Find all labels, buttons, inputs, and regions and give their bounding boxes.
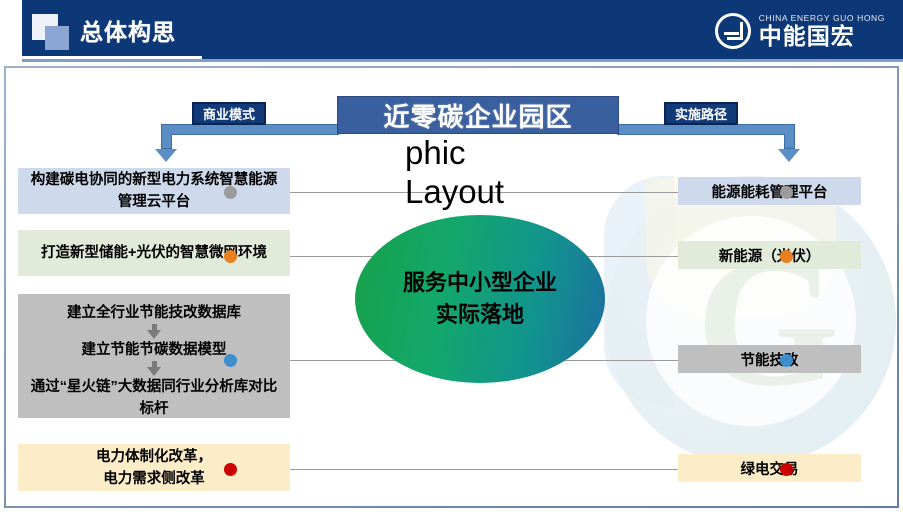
arrow-left-head-icon [155,149,177,162]
right-item-2[interactable]: 新能源（光伏） [678,241,861,269]
arrow-right-stem [784,134,795,149]
left-item-3-arrow-2-icon [147,361,161,376]
header-title-underline [22,56,202,59]
connector-dot-right-3 [780,354,793,367]
connector-dot-right-2 [780,250,793,263]
tag-business-model[interactable]: 商业模式 [192,102,266,125]
connector-dot-left-4 [224,463,237,476]
arrow-right-head-icon [778,149,800,162]
center-ellipse: 服务中小型企业 实际落地 [355,215,605,383]
left-item-3-label-2: 建立节能节碳数据模型 [24,339,284,361]
header-square-blue-icon [45,26,69,50]
connector-dot-right-4 [780,463,793,476]
company-logo: CHINA ENERGY GUO HONG 中能国宏 [715,11,885,51]
watermark-blue-band [604,176,674,406]
connector-dot-left-3 [224,354,237,367]
slide-header: 总体构思 CHINA ENERGY GUO HONG 中能国宏 [0,0,903,62]
left-item-1-label: 构建碳电协同的新型电力系统智慧能源管理云平台 [24,169,284,213]
diagram-main-title: 近零碳企业园区 [337,96,619,134]
left-item-4-label: 电力体制化改革， 电力需求侧改革 [96,446,212,490]
right-item-3[interactable]: 节能技改 [678,345,861,373]
connector-dot-left-2 [224,250,237,263]
center-ellipse-line2: 实际落地 [436,299,524,331]
right-item-4[interactable]: 绿电交易 [678,454,861,482]
page-title: 总体构思 [80,13,176,47]
left-item-2[interactable]: 打造新型储能+光伏的智慧微网环境 [18,230,290,276]
right-item-1-label: 能源能耗管理平台 [712,181,828,202]
company-logo-chinese: 中能国宏 [759,24,885,49]
left-item-1[interactable]: 构建碳电协同的新型电力系统智慧能源管理云平台 [18,168,290,214]
left-item-3-label-3: 通过“星火链”大数据同行业分析库对比标杆 [24,376,284,420]
connector-dot-left-1 [224,186,237,199]
arrow-left-bar [161,124,339,135]
company-logo-mark-icon [715,13,751,49]
overflow-text: phic Layout [405,133,504,211]
left-item-3[interactable]: 建立全行业节能技改数据库 建立节能节碳数据模型 通过“星火链”大数据同行业分析库… [18,294,290,418]
slide-canvas: 总体构思 CHINA ENERGY GUO HONG 中能国宏 G [0,0,903,512]
left-item-3-arrow-1-icon [147,324,161,339]
header-left-accent [0,0,22,62]
company-logo-text: CHINA ENERGY GUO HONG 中能国宏 [759,13,885,49]
connector-dot-right-1 [780,186,793,199]
arrow-left-stem [161,134,172,149]
arrow-right-bar [617,124,795,135]
tag-implementation-path[interactable]: 实施路径 [664,102,738,125]
center-ellipse-line1: 服务中小型企业 [403,267,557,299]
left-item-4[interactable]: 电力体制化改革， 电力需求侧改革 [18,444,290,491]
right-item-2-label: 新能源（光伏） [719,245,821,266]
right-item-1[interactable]: 能源能耗管理平台 [678,177,861,205]
left-item-3-label-1: 建立全行业节能技改数据库 [24,302,284,324]
watermark-circle [606,176,896,466]
